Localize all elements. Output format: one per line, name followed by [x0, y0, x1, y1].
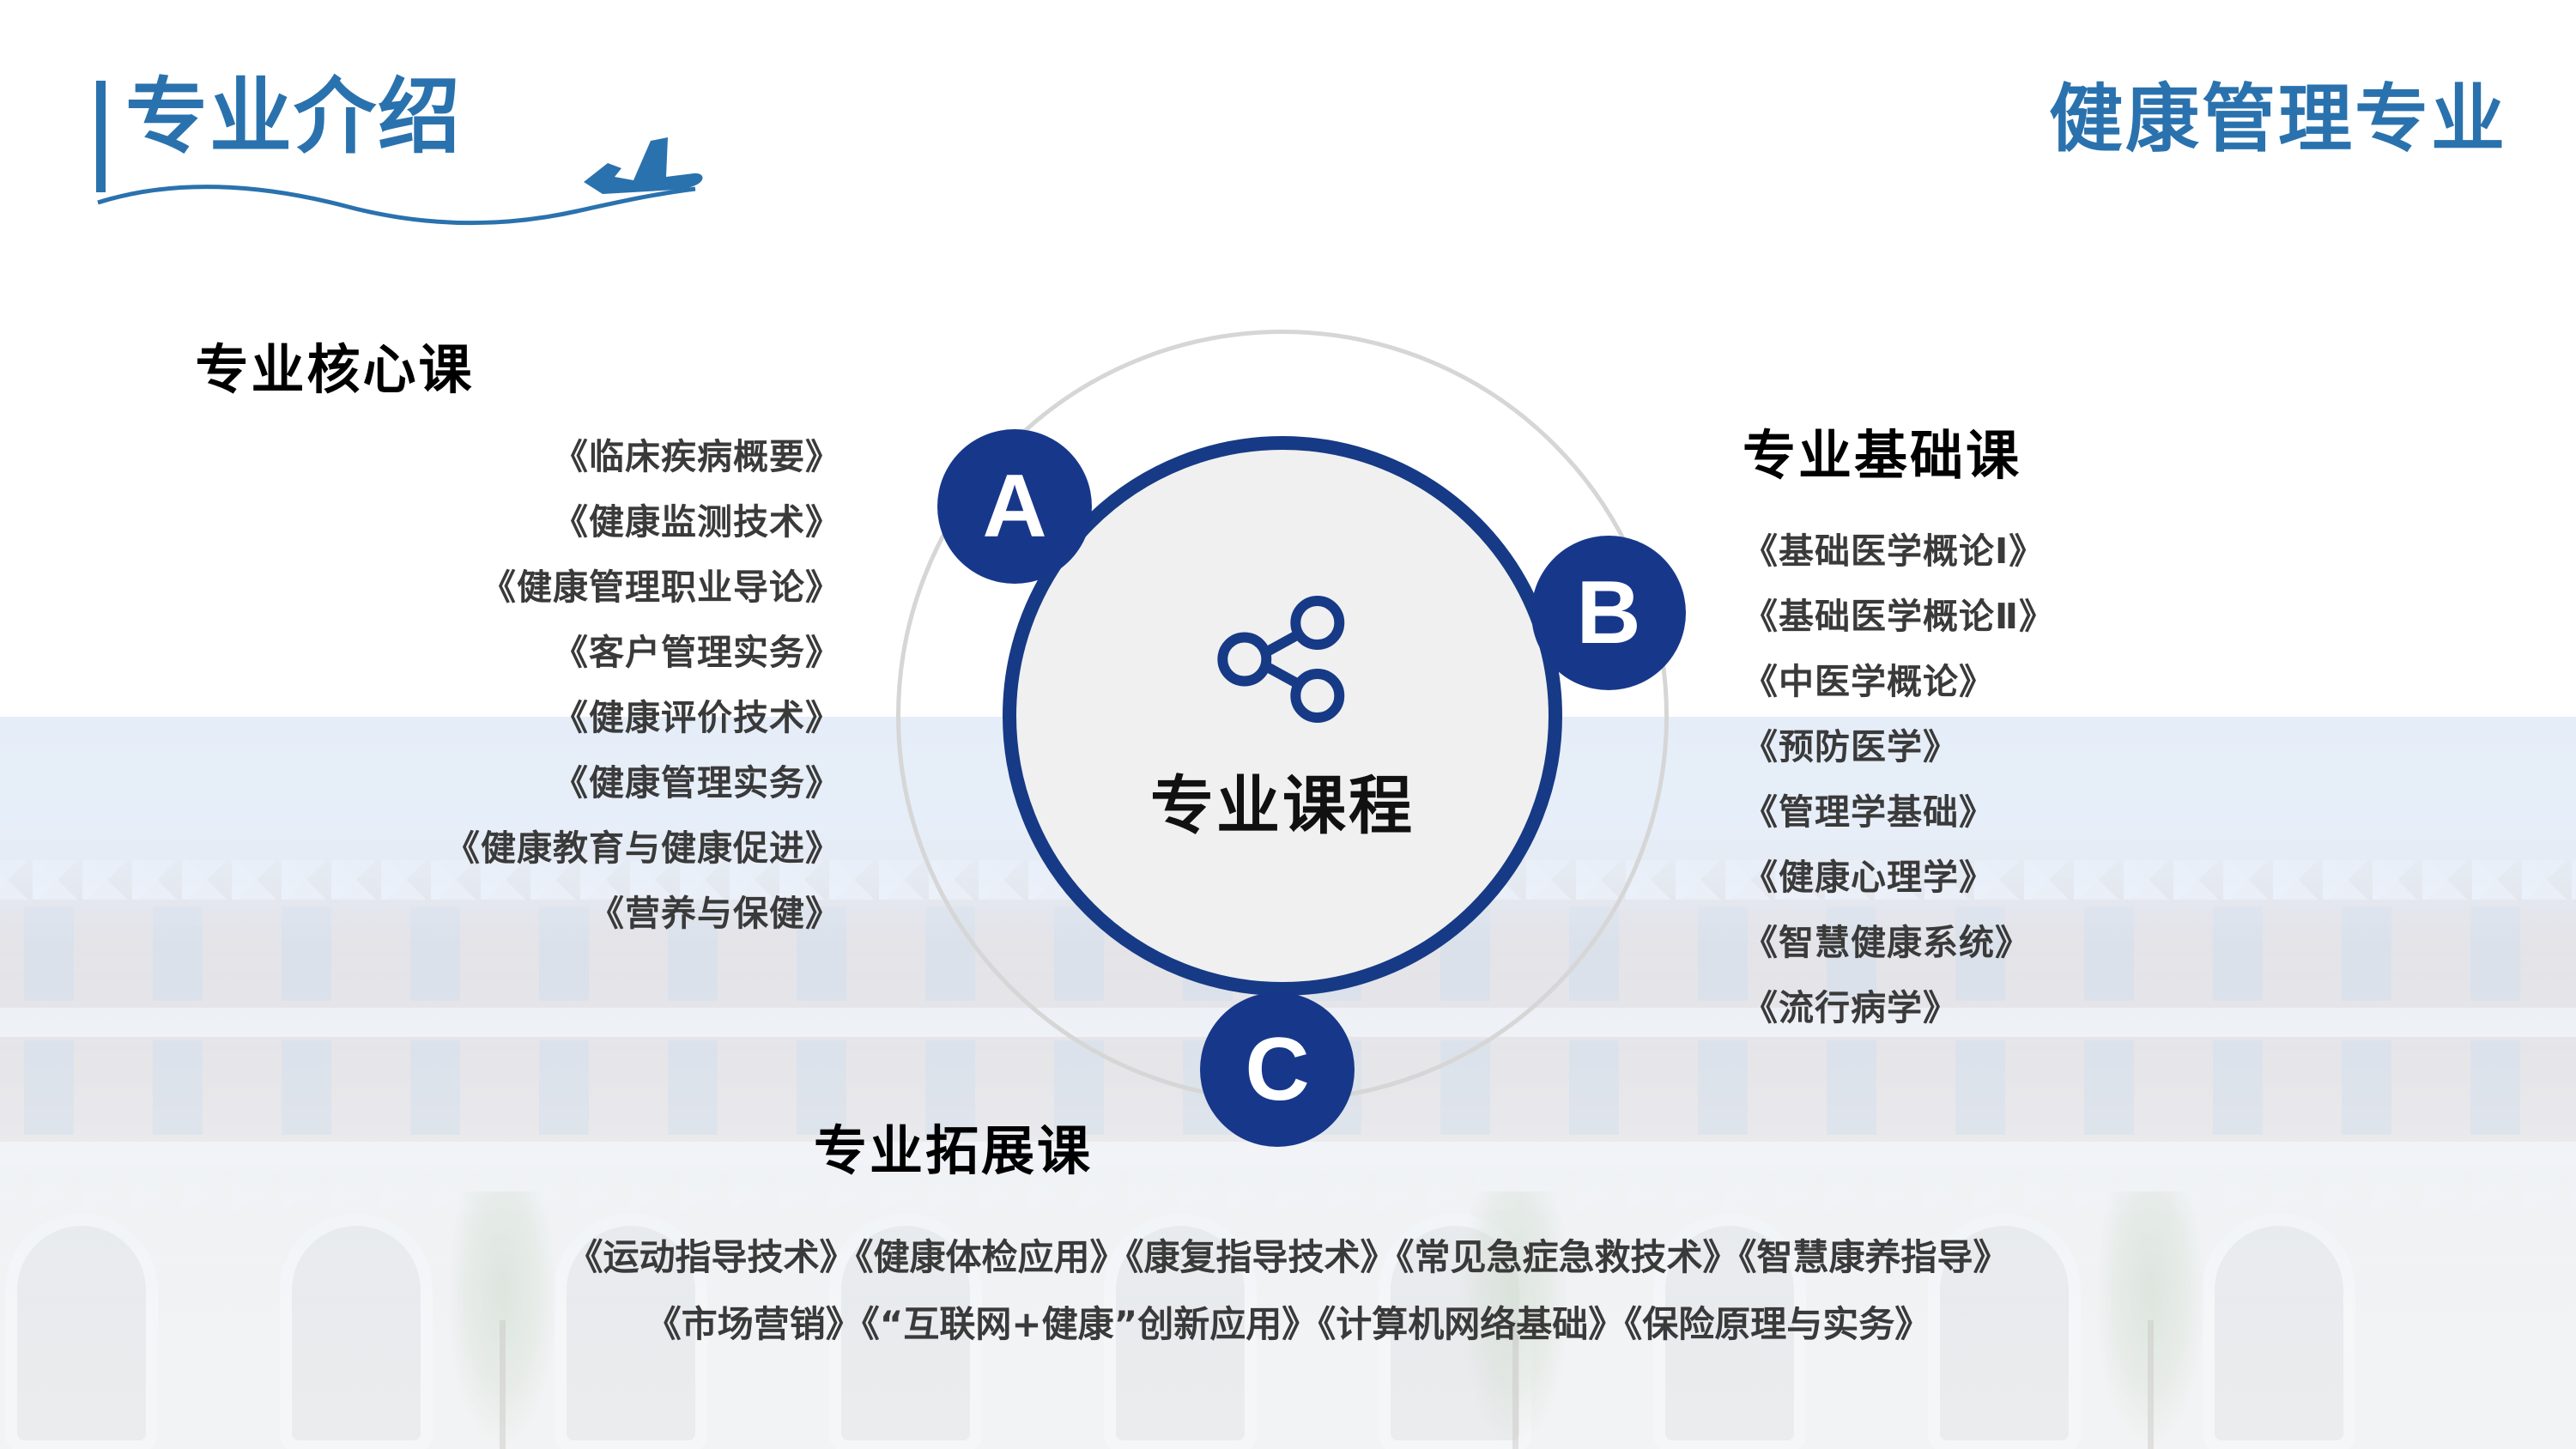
badge-b[interactable]: B: [1531, 536, 1686, 690]
course-item: 《健康管理实务》: [0, 750, 841, 815]
header-accent-bar: [96, 81, 106, 192]
course-item: 《健康监测技术》: [0, 489, 841, 555]
course-item: 《营养与保健》: [0, 881, 841, 946]
column-core-courses: 专业核心课 《临床疾病概要》 《健康监测技术》 《健康管理职业导论》 《客户管理…: [0, 326, 858, 946]
share-network-icon: [1209, 586, 1355, 732]
column-extension-title: 专业拓展课: [0, 1107, 2241, 1185]
course-item: 《健康管理职业导论》: [0, 555, 841, 620]
course-line: 《运动指导技术》《健康体检应用》《康复指导技术》《常见急症急救技术》《智慧康养指…: [0, 1224, 2576, 1291]
subject-title: 健康管理专业: [2049, 82, 2507, 156]
column-extension-courses: 专业拓展课 《运动指导技术》《健康体检应用》《康复指导技术》《常见急症急救技术》…: [0, 1107, 2576, 1358]
course-item: 《管理学基础》: [1743, 779, 2481, 845]
course-item: 《健康评价技术》: [0, 685, 841, 750]
course-item: 《基础医学概论Ⅰ》: [1743, 518, 2481, 584]
course-item: 《流行病学》: [1743, 975, 2481, 1040]
column-extension-list: 《运动指导技术》《健康体检应用》《康复指导技术》《常见急症急救技术》《智慧康养指…: [0, 1224, 2576, 1358]
wave-underline: [96, 177, 697, 237]
column-core-title: 专业核心课: [0, 326, 841, 403]
slide-root: 专业介绍 健康管理专业 专业核心课 《临床疾病概要》 《健康监测技术》 《健康管…: [0, 0, 2576, 1449]
diagram-center-label: 专业课程: [1150, 755, 1415, 846]
diagram-core: 专业课程: [1033, 467, 1531, 965]
slide-header: 专业介绍 健康管理专业: [0, 0, 2576, 232]
course-item: 《健康教育与健康促进》: [0, 815, 841, 881]
course-item: 《客户管理实务》: [0, 620, 841, 685]
course-item: 《临床疾病概要》: [0, 424, 841, 489]
column-basic-list: 《基础医学概论Ⅰ》 《基础医学概论Ⅱ》 《中医学概论》 《预防医学》 《管理学基…: [1743, 518, 2481, 1040]
column-basic-title: 专业基础课: [1743, 412, 2481, 489]
badge-a[interactable]: A: [937, 429, 1092, 584]
course-item: 《基础医学概论Ⅱ》: [1743, 584, 2481, 649]
page-title: 专业介绍: [125, 76, 462, 158]
column-basic-courses: 专业基础课 《基础医学概论Ⅰ》 《基础医学概论Ⅱ》 《中医学概论》 《预防医学》…: [1743, 412, 2481, 1040]
course-line: 《市场营销》《“互联网+健康”创新应用》《计算机网络基础》《保险原理与实务》: [0, 1291, 2576, 1358]
course-item: 《中医学概论》: [1743, 649, 2481, 714]
course-item: 《预防医学》: [1743, 714, 2481, 779]
column-core-list: 《临床疾病概要》 《健康监测技术》 《健康管理职业导论》 《客户管理实务》 《健…: [0, 424, 841, 946]
course-item: 《健康心理学》: [1743, 845, 2481, 910]
course-item: 《智慧健康系统》: [1743, 910, 2481, 975]
course-structure-diagram: 专业课程 A B C: [896, 330, 1674, 1107]
